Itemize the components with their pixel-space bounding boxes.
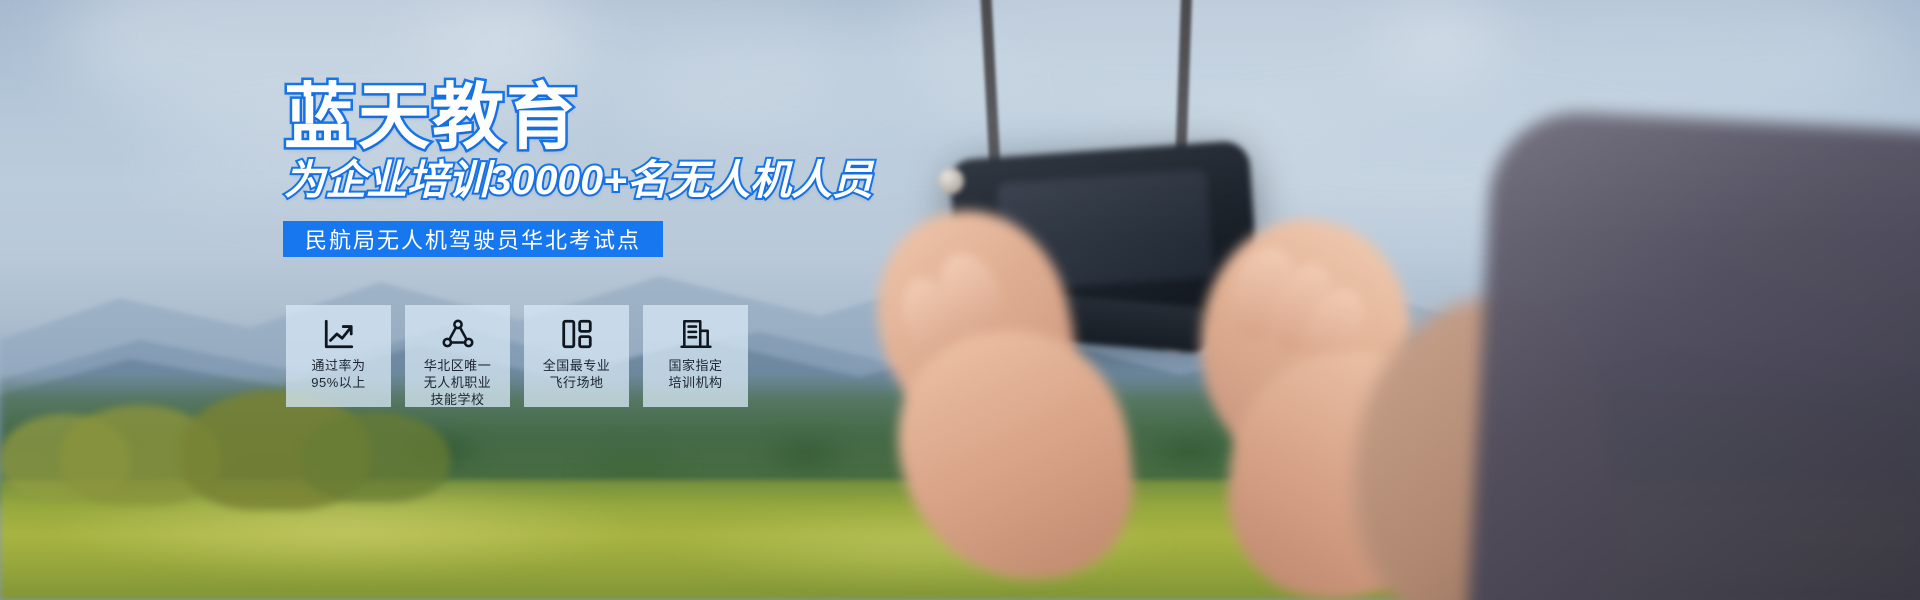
building-institution-icon xyxy=(679,317,713,351)
layout-panels-icon xyxy=(560,317,594,351)
feature-card-label: 全国最专业 飞行场地 xyxy=(543,357,611,391)
feature-card-national-institution[interactable]: 国家指定 培训机构 xyxy=(643,305,748,407)
feature-card-label: 国家指定 培训机构 xyxy=(668,357,722,391)
feature-card-pass-rate[interactable]: 通过率为 95%以上 xyxy=(286,305,391,407)
trending-up-chart-icon xyxy=(322,317,356,351)
feature-card-label: 通过率为 95%以上 xyxy=(311,357,366,391)
network-nodes-icon xyxy=(441,317,475,351)
feature-card-label: 华北区唯一 无人机职业 技能学校 xyxy=(424,357,492,408)
feature-card-vocational-school[interactable]: 华北区唯一 无人机职业 技能学校 xyxy=(405,305,510,407)
feature-card-flight-field[interactable]: 全国最专业 飞行场地 xyxy=(524,305,629,407)
feature-card-list: 通过率为 95%以上 华北区唯一 无人机职业 技能学校 xyxy=(286,305,748,407)
status-badge: 民航局无人机驾驶员华北考试点 xyxy=(283,221,663,257)
hero-banner: 蓝天教育 为企业培训30000+名无人机人员 民航局无人机驾驶员华北考试点 通过… xyxy=(0,0,1920,600)
page-title: 蓝天教育 xyxy=(284,82,580,154)
banner-subtitle: 为企业培训30000+名无人机人员 xyxy=(284,160,873,201)
banner-content: 蓝天教育 为企业培训30000+名无人机人员 民航局无人机驾驶员华北考试点 通过… xyxy=(0,0,1920,600)
